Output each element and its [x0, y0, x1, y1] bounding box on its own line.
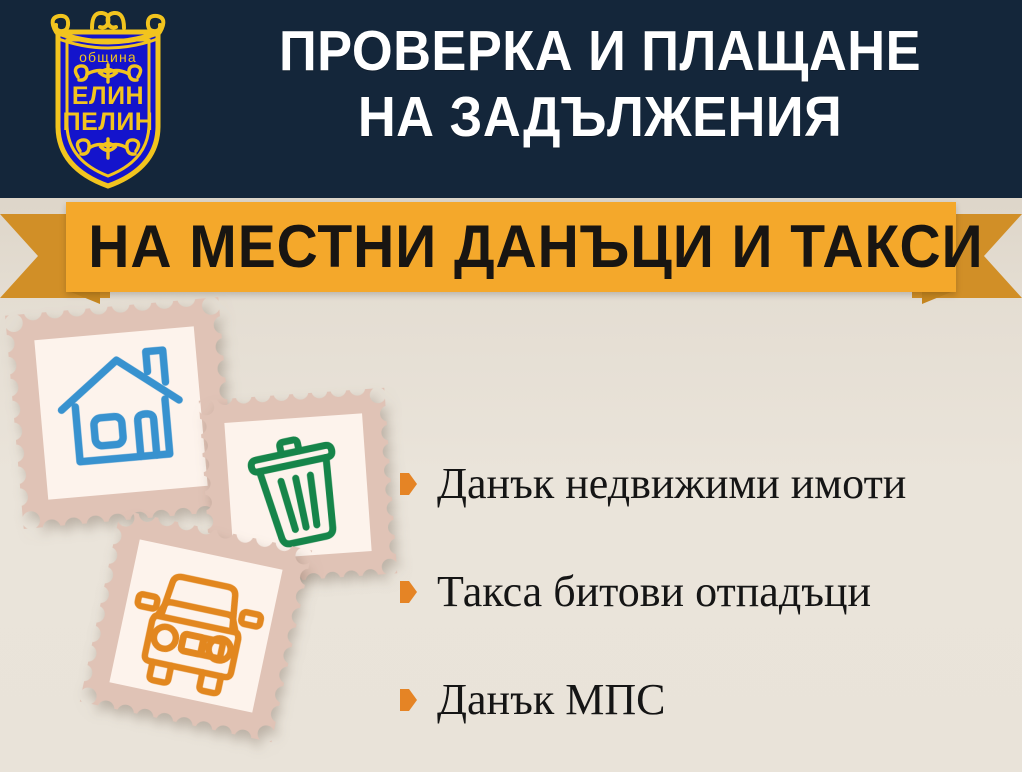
- list-item-label: Данък МПС: [437, 677, 665, 723]
- page-title: ПРОВЕРКА И ПЛАЩАНЕ НА ЗАДЪЛЖЕНИЯ: [223, 18, 977, 150]
- list-item-label: Такса битови отпадъци: [437, 569, 871, 615]
- list-item[interactable]: Данък МПС: [400, 646, 1010, 754]
- page-title-line-1: ПРОВЕРКА И ПЛАЩАНЕ: [223, 18, 977, 84]
- list-item[interactable]: Данък недвижими имоти: [400, 430, 1010, 538]
- tax-type-list: Данък недвижими имоти Такса битови отпад…: [400, 430, 1010, 754]
- section-banner-label: НА МЕСТНИ ДАНЪЦИ И ТАКСИ: [88, 202, 934, 292]
- svg-text:община: община: [79, 49, 137, 65]
- municipality-logo: община ЕЛИН ПЕЛИН: [40, 6, 176, 190]
- list-item[interactable]: Такса битови отпадъци: [400, 538, 1010, 646]
- svg-text:ЕЛИН: ЕЛИН: [72, 82, 144, 110]
- list-item-label: Данък недвижими имоти: [437, 461, 906, 507]
- bullet-arrow-icon: [400, 581, 417, 603]
- poster-canvas: ПРОВЕРКА И ПЛАЩАНЕ НА ЗАДЪЛЖЕНИЯ община: [0, 0, 1022, 772]
- bullet-arrow-icon: [400, 473, 417, 495]
- page-title-line-2: НА ЗАДЪЛЖЕНИЯ: [223, 84, 977, 150]
- section-banner: НА МЕСТНИ ДАНЪЦИ И ТАКСИ: [66, 202, 956, 292]
- bullet-arrow-icon: [400, 689, 417, 711]
- stamp-vehicle: [80, 510, 312, 742]
- svg-text:ПЕЛИН: ПЕЛИН: [63, 108, 154, 136]
